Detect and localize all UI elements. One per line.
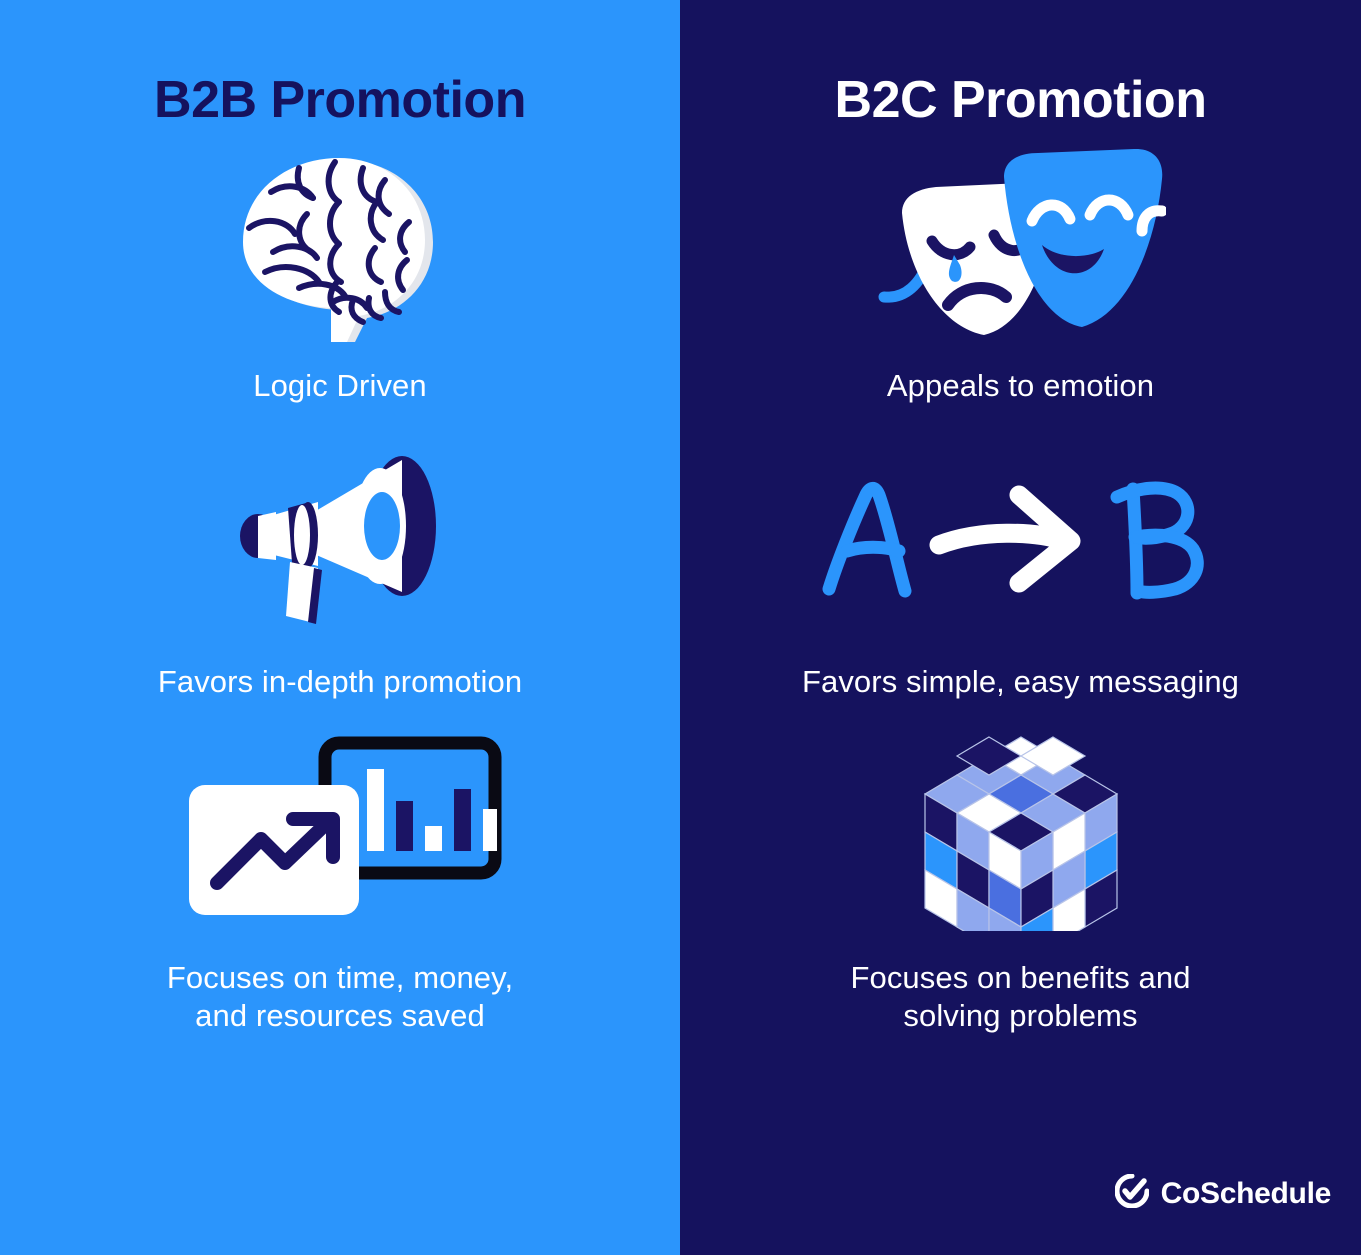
b2b-item-logic-driven: Logic Driven xyxy=(0,147,680,405)
theater-masks-icon xyxy=(876,143,1166,347)
b2b-caption-3-line1: Focuses on time, money, xyxy=(167,959,513,997)
b2c-item-emotion: Appeals to emotion xyxy=(680,143,1361,405)
coschedule-check-icon xyxy=(1115,1174,1149,1213)
coschedule-logo[interactable]: CoSchedule xyxy=(1115,1174,1331,1213)
b2c-title: B2C Promotion xyxy=(835,72,1207,129)
b2b-caption-2: Favors in-depth promotion xyxy=(158,663,522,701)
b2c-caption-3-line2: solving problems xyxy=(850,997,1190,1035)
b2c-item-benefits: Focuses on benefits and solving problems xyxy=(680,731,1361,1035)
megaphone-icon xyxy=(230,445,450,635)
panel-b2c: B2C Promotion xyxy=(680,0,1361,1255)
b2b-item-in-depth: Favors in-depth promotion xyxy=(0,445,680,701)
chart-growth-icon xyxy=(175,731,505,931)
infographic-b2b-vs-b2c-promotion: B2B Promotion xyxy=(0,0,1361,1255)
b2c-caption-3: Focuses on benefits and solving problems xyxy=(850,959,1190,1035)
rubiks-cube-icon xyxy=(921,731,1121,931)
panel-b2b: B2B Promotion xyxy=(0,0,680,1255)
b2c-caption-3-line1: Focuses on benefits and xyxy=(850,959,1190,997)
b2b-title: B2B Promotion xyxy=(154,72,526,129)
b2b-caption-3: Focuses on time, money, and resources sa… xyxy=(167,959,513,1035)
b2c-item-simple-messaging: Favors simple, easy messaging xyxy=(680,449,1361,701)
b2b-item-time-money: Focuses on time, money, and resources sa… xyxy=(0,731,680,1035)
b2b-caption-1: Logic Driven xyxy=(253,367,427,405)
b2c-caption-2: Favors simple, easy messaging xyxy=(802,663,1239,701)
b2c-caption-1: Appeals to emotion xyxy=(887,367,1154,405)
b2b-caption-3-line2: and resources saved xyxy=(167,997,513,1035)
a-to-b-arrow-icon xyxy=(821,449,1221,635)
brain-icon xyxy=(235,147,445,347)
coschedule-logo-text: CoSchedule xyxy=(1161,1177,1331,1211)
